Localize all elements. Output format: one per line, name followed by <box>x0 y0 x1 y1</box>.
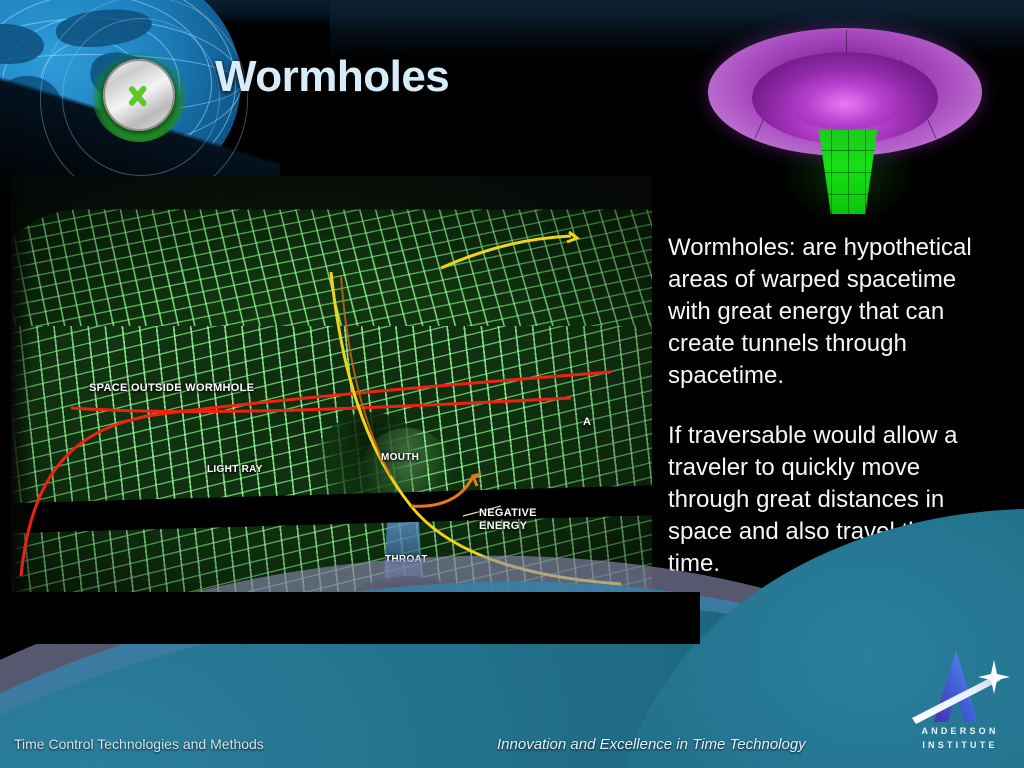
logo-subname: INSTITUTE <box>900 740 1020 750</box>
wormhole-funnel-graphic <box>700 12 990 212</box>
footer-tagline: Innovation and Excellence in Time Techno… <box>497 736 806 753</box>
negative-energy-line1: NEGATIVE <box>479 507 537 520</box>
footer-black-cap <box>0 592 700 644</box>
diagram-label-point-a: A <box>583 416 591 428</box>
chevron-left-icon <box>124 75 154 115</box>
diagram-label-light-ray: LIGHT RAY <box>207 464 263 475</box>
diagram-label-negative-energy: NEGATIVE ENERGY <box>479 507 537 533</box>
tube-gridline <box>848 130 849 214</box>
body-paragraph-1: Wormholes: are hypothetical areas of war… <box>668 232 1004 392</box>
wormhole-spacetime-diagram: SPACE OUTSIDE WORMHOLE LIGHT RAY MOUTH N… <box>11 176 652 592</box>
page-title: Wormholes <box>215 52 449 102</box>
tube-gridline <box>831 130 832 214</box>
logo-name: ANDERSON <box>900 726 1020 736</box>
footer-left-text: Time Control Technologies and Methods <box>14 736 264 752</box>
negative-energy-line2: ENERGY <box>479 520 537 533</box>
previous-slide-button[interactable] <box>92 48 186 142</box>
funnel-deep-center <box>786 72 904 130</box>
diagram-label-space-outside: SPACE OUTSIDE WORMHOLE <box>89 382 254 394</box>
presentation-slide: Wormholes <box>0 0 1024 768</box>
tube-gridline <box>865 130 866 214</box>
diagram-label-mouth: MOUTH <box>381 452 419 463</box>
button-face <box>103 59 175 131</box>
